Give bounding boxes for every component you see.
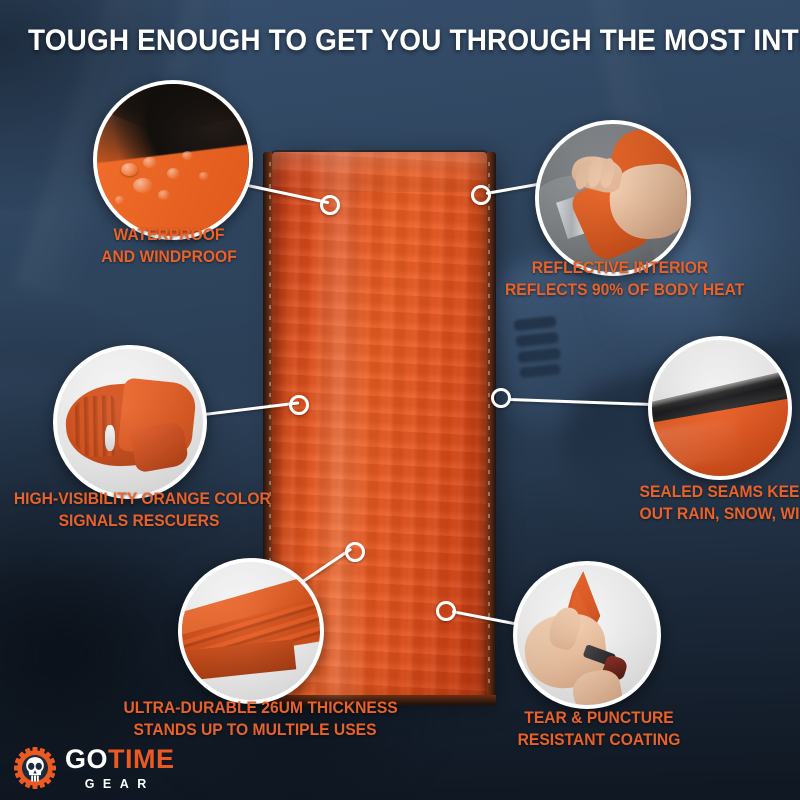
water-beads-on-orange-fabric-photo [97,84,249,236]
sealed-seam-closeup-photo [652,340,788,476]
connector-endpoint-tear-puncture [436,601,456,621]
feature-label-sealed-seams: SEALED SEAMS KEEP OUT RAIN, SNOW, WIND [640,481,791,525]
feature-circle-tear-puncture [513,561,661,709]
feature-circle-waterproof [93,80,253,240]
feature-label-line1: TEAR & PUNCTURE [501,707,698,729]
page-title: TOUGH ENOUGH TO GET YOU THROUGH THE MOST… [28,24,772,58]
feature-label-line1: WATERPROOF [68,224,270,246]
product-infographic: TOUGH ENOUGH TO GET YOU THROUGH THE MOST… [0,0,800,800]
connector-endpoint-reflective [471,185,491,205]
hands-holding-reflective-silver-lining-photo [539,124,687,272]
feature-circle-sealed-seams [648,336,792,480]
brand-logo: GOTIME GEAR [14,746,175,791]
product-stitch-line [488,162,490,683]
logo-wordmark: GOTIME GEAR [65,746,175,791]
folded-material-layers-photo [182,562,320,700]
feature-label-line2: OUT RAIN, SNOW, WIND [640,503,791,525]
feature-label-line2: RESISTANT COATING [501,729,698,751]
feature-label-tear-puncture: TEAR & PUNCTURE RESISTANT COATING [501,707,698,751]
feature-label-line1: SEALED SEAMS KEEP [640,481,791,503]
feature-label-line2: AND WINDPROOF [68,246,270,268]
feature-label-line1: ULTRA-DURABLE 26UM THICKNESS [123,697,386,719]
rolled-orange-bivvy-photo [57,349,203,495]
connector-endpoint-sealed-seams [491,388,511,408]
logo-word-time: TIME [108,744,175,774]
feature-label-high-visibility: HIGH-VISIBILITY ORANGE COLOR SIGNALS RES… [14,488,264,532]
product-top-fold [272,152,487,192]
gear-skull-icon [14,747,56,789]
feature-label-line1: HIGH-VISIBILITY ORANGE COLOR [14,488,264,510]
feature-label-line1: REFLECTIVE INTERIOR [505,257,735,279]
feature-label-reflective-interior: REFLECTIVE INTERIOR REFLECTS 90% OF BODY… [505,257,735,301]
connector-endpoint-high-visibility [289,395,309,415]
logo-line-primary: GOTIME [65,746,175,773]
feature-circle-high-visibility [53,345,207,499]
logo-word-go: GO [65,744,108,774]
feature-label-ultra-durable: ULTRA-DURABLE 26UM THICKNESS STANDS UP T… [123,697,386,741]
feature-label-waterproof: WATERPROOF AND WINDPROOF [68,224,270,268]
hand-testing-material-with-tool-photo [517,565,657,705]
feature-circle-ultra-durable [178,558,324,704]
connector-endpoint-waterproof [320,195,340,215]
feature-label-line2: SIGNALS RESCUERS [14,510,264,532]
connector-endpoint-ultra-durable [345,542,365,562]
feature-label-line2: REFLECTS 90% OF BODY HEAT [505,279,735,301]
logo-word-gear: GEAR [65,778,175,791]
feature-label-line2: STANDS UP TO MULTIPLE USES [123,719,386,741]
feature-circle-reflective-interior [535,120,691,276]
